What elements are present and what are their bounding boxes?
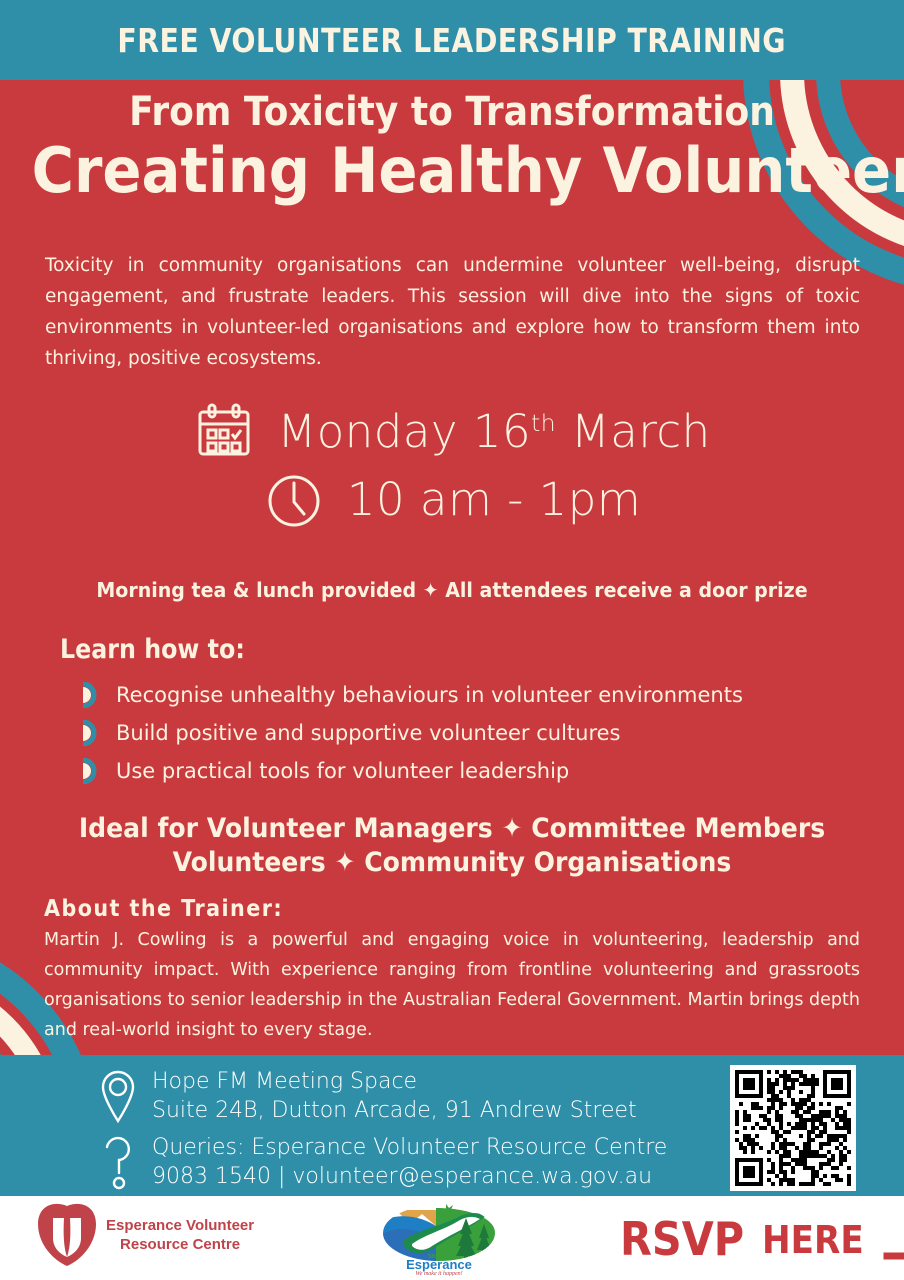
venue-name: Hope FM Meeting Space [152,1067,637,1096]
event-when-block: Monday 16th March 10 am - 1pm [0,400,904,530]
event-date-ordinal: th [531,409,556,437]
evrc-logo: Esperance Volunteer Resource Centre [36,1202,254,1268]
contact-details: Hope FM Meeting Space Suite 24B, Dutton … [98,1067,667,1191]
rsvp-here-word: HERE [762,1218,864,1262]
rsvp-word: RSVP [620,1216,744,1262]
headline-title: Creating Healthy Volunteering [32,138,873,203]
svg-text:We make it happen!: We make it happen! [415,1271,462,1276]
arrow-up-icon [881,1206,904,1262]
contact-line[interactable]: 9083 1540 | volunteer@esperance.wa.gov.a… [152,1162,667,1191]
event-date: Monday 16th March [277,405,710,458]
rsvp-callout[interactable]: RSVP HERE [620,1206,904,1262]
headline-block: From Toxicity to Transformation Creating… [0,92,904,203]
queries-line: Queries: Esperance Volunteer Resource Ce… [152,1133,667,1162]
queries-text: Queries: Esperance Volunteer Resource Ce… [152,1133,667,1191]
event-date-row: Monday 16th March [0,400,904,462]
evrc-label: Esperance Volunteer Resource Centre [106,1216,254,1254]
event-date-day: Monday 16 [277,405,531,458]
trainer-body: Martin J. Cowling is a powerful and enga… [44,925,860,1045]
event-time-row: 10 am - 1pm [0,468,904,530]
learn-list: Recognise unhealthy behaviours in volunt… [78,676,868,790]
list-item: Use practical tools for volunteer leader… [78,752,868,790]
ideal-for-block: Ideal for Volunteer Managers ✦ Committee… [32,812,873,880]
event-date-month: March [556,405,710,458]
ideal-for-line-2: Volunteers ✦ Community Organisations [32,846,873,880]
learn-heading: Learn how to: [60,634,245,665]
trainer-heading: About the Trainer: [44,896,283,922]
crescent-bullet-icon [78,758,104,784]
queries-block: Queries: Esperance Volunteer Resource Ce… [98,1133,667,1191]
intro-paragraph: Toxicity in community organisations can … [45,250,860,374]
list-item-label: Recognise unhealthy behaviours in volunt… [116,683,743,707]
map-pin-icon [98,1067,138,1125]
evrc-heart-logo-icon [36,1202,98,1268]
venue-text: Hope FM Meeting Space Suite 24B, Dutton … [152,1067,637,1125]
shire-of-esperance-logo-icon: Shire of Esperance We make it happen! [374,1200,504,1276]
clock-icon [263,468,325,530]
evrc-label-line-1: Esperance Volunteer [106,1216,254,1235]
question-mark-icon [98,1133,138,1191]
top-banner-title: FREE VOLUNTEER LEADERSHIP TRAINING [118,21,787,60]
perks-line: Morning tea & lunch provided ✦ All atten… [23,578,882,602]
headline-subtitle: From Toxicity to Transformation [45,92,859,132]
calendar-icon [193,400,255,462]
poster-canvas: FREE VOLUNTEER LEADERSHIP TRAINING From … [0,0,904,1280]
list-item: Build positive and supportive volunteer … [78,714,868,752]
crescent-bullet-icon [78,682,104,708]
top-banner: FREE VOLUNTEER LEADERSHIP TRAINING [0,0,904,80]
list-item-label: Build positive and supportive volunteer … [116,721,620,745]
evrc-label-line-2: Resource Centre [106,1235,254,1254]
crescent-bullet-icon [78,720,104,746]
event-time: 10 am - 1pm [347,473,641,526]
list-item-label: Use practical tools for volunteer leader… [116,759,569,783]
venue-address: Suite 24B, Dutton Arcade, 91 Andrew Stre… [152,1096,637,1125]
ideal-for-line-1: Ideal for Volunteer Managers ✦ Committee… [32,812,873,846]
qr-code[interactable] [730,1065,856,1191]
svg-text:Esperance: Esperance [406,1257,472,1272]
venue-block: Hope FM Meeting Space Suite 24B, Dutton … [98,1067,667,1125]
list-item: Recognise unhealthy behaviours in volunt… [78,676,868,714]
logo-footer: Esperance Volunteer Resource Centre [0,1196,904,1280]
